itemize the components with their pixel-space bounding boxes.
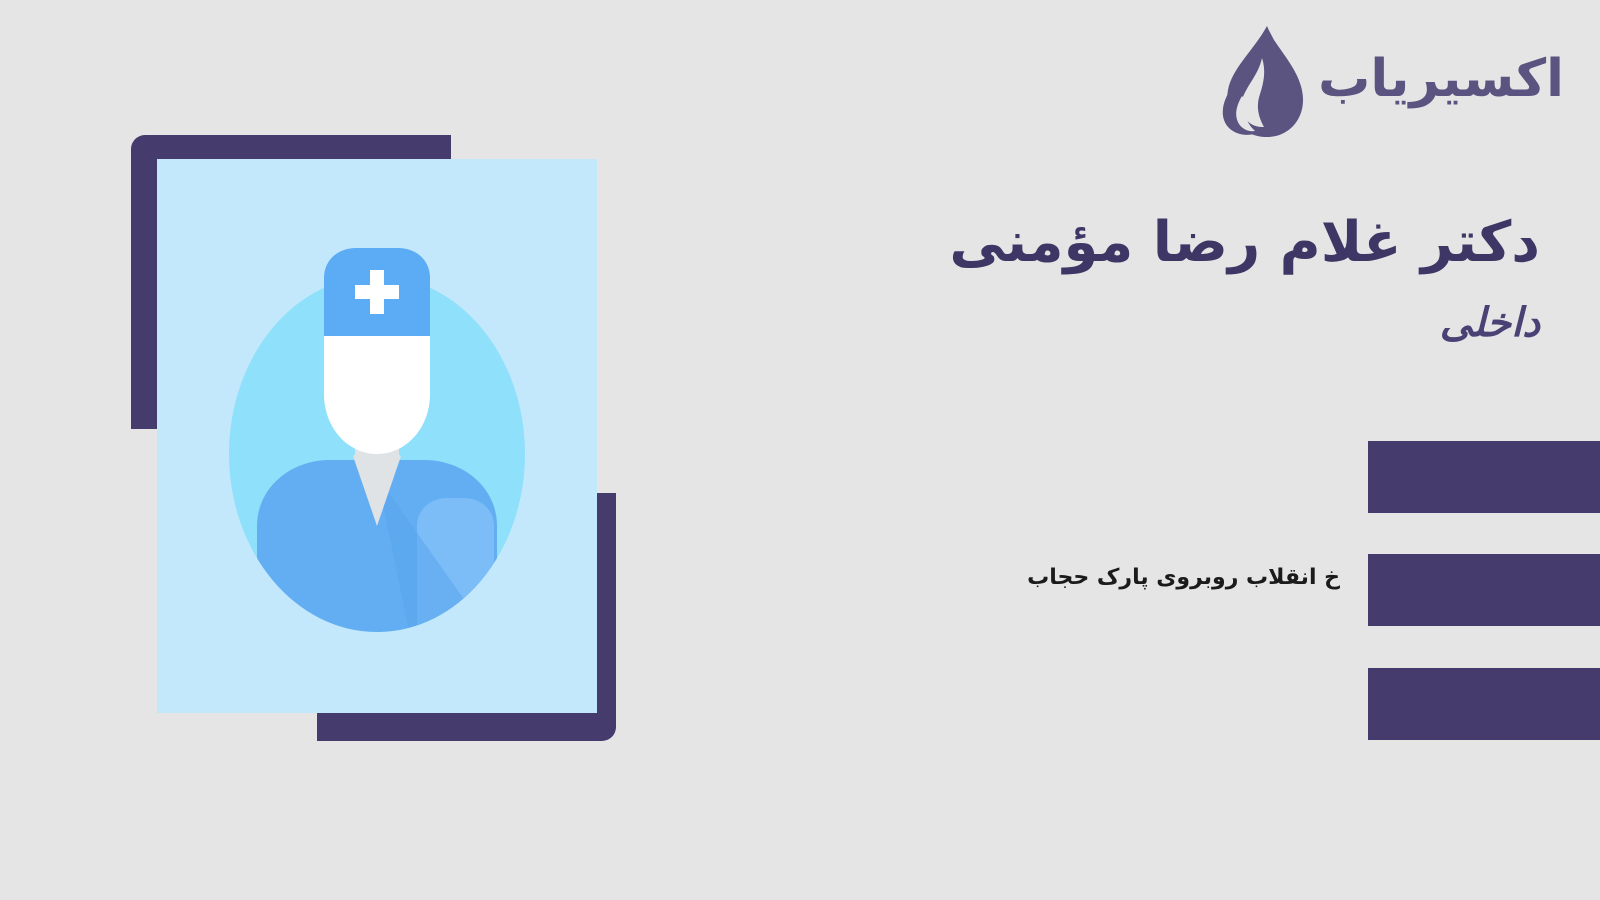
decorative-bar — [1368, 441, 1600, 513]
doctor-photo-block — [131, 135, 616, 741]
doctor-name: دکتر غلام رضا مؤمنی — [780, 205, 1540, 281]
doctor-specialty: داخلی — [780, 295, 1540, 351]
doctor-info: دکتر غلام رضا مؤمنی داخلی — [780, 205, 1540, 351]
flame-droplet-logo-icon — [1212, 24, 1308, 140]
decorative-bar — [1368, 554, 1600, 626]
decorative-bar — [1368, 668, 1600, 740]
doctor-photo-card — [157, 159, 597, 713]
brand-logo[interactable]: اکسیریاب — [1212, 22, 1564, 142]
brand-name: اکسیریاب — [1318, 53, 1564, 111]
doctor-address: خ انقلاب روبروی پارک حجاب — [1027, 563, 1340, 594]
decorative-bars — [1368, 441, 1600, 741]
page-root: اکسیریاب — [0, 0, 1600, 900]
